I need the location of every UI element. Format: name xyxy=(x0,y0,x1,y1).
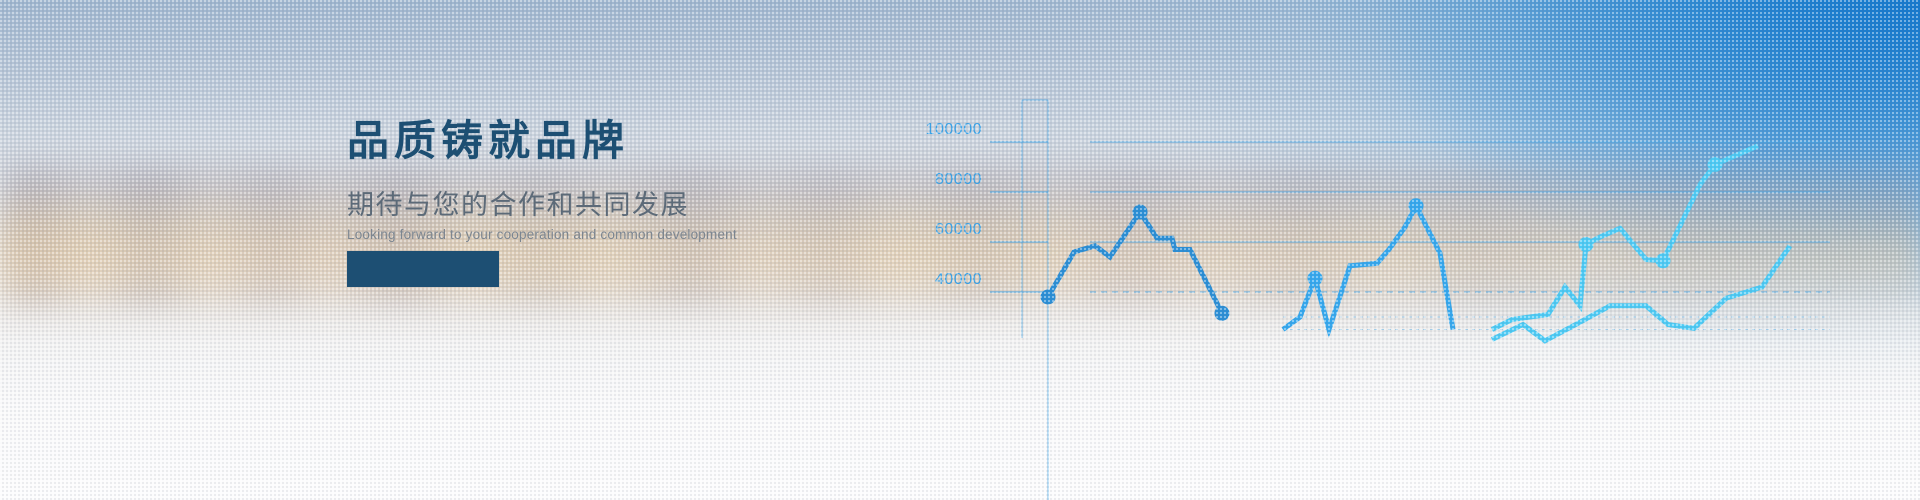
background-bottom-fade xyxy=(0,290,1920,500)
banner-tagline: Looking forward to your cooperation and … xyxy=(347,227,907,242)
background-warm-glow xyxy=(0,205,1920,295)
banner-subtitle: 期待与您的合作和共同发展 xyxy=(347,190,907,221)
learn-more-button[interactable] xyxy=(347,251,499,287)
hero-banner: 100000800006000040000 品质铸就品牌 期待与您的合作和共同发… xyxy=(0,0,1920,500)
page-title: 品质铸就品牌 xyxy=(347,118,907,164)
banner-copy: 品质铸就品牌 期待与您的合作和共同发展 Looking forward to y… xyxy=(347,118,907,242)
